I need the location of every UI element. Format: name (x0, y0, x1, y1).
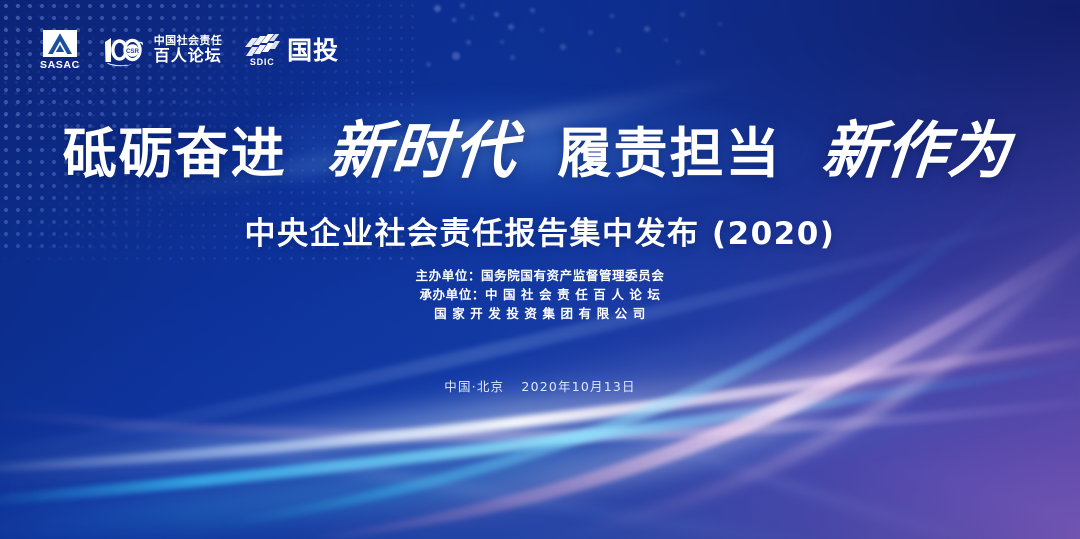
organizer-block: 主办单位：国务院国有资产监督管理委员会 承办单位：中 国 社 会 责 任 百 人… (0, 266, 1080, 323)
headline-segment-2: 新时代 (319, 120, 525, 182)
event-dateline: 中国·北京 2020年10月13日 (0, 376, 1080, 395)
headline-segment-3: 履责担当 (557, 126, 781, 180)
headline-segment-4: 新作为 (814, 120, 1020, 182)
sdic-chinese-wordmark: 国投 (287, 38, 339, 63)
sdic-chevrons-icon: SDIC (244, 34, 280, 67)
headline-segment-1: 砥砺奋进 (63, 126, 287, 180)
csr-100-emblem-icon: CSR (102, 33, 146, 67)
csr-cn-line-2: 百人论坛 (154, 49, 222, 65)
sdic-wordmark: SDIC (250, 57, 275, 67)
sasac-wordmark: SASAC (40, 60, 80, 71)
csr-cn-line-1: 中国社会责任 (154, 36, 222, 47)
organizer-line-coorganizer-1: 承办单位：中 国 社 会 责 任 百 人 论 坛 (0, 285, 1080, 304)
sponsor-logo-bar: SASAC CSR (40, 26, 339, 74)
organizer-line-coorganizer-2: 国 家 开 发 投 资 集 团 有 限 公 司 (0, 304, 1080, 323)
poster-subtitle: 中央企业社会责任报告集中发布 (2020) (0, 208, 1080, 253)
event-poster: SASAC CSR (0, 0, 1080, 539)
sasac-logo: SASAC (40, 30, 80, 71)
organizer-line-host: 主办单位：国务院国有资产监督管理委员会 (0, 266, 1080, 285)
poster-headline: 砥砺奋进 新时代 履责担当 新作为 (0, 120, 1080, 182)
event-date: 2020年10月13日 (521, 379, 635, 394)
sdic-logo: SDIC 国投 (244, 34, 339, 67)
china-csr-top100-forum-logo: CSR 中国社会责任 百人论坛 (102, 33, 222, 67)
event-location: 中国·北京 (444, 379, 504, 394)
csr-chinese-wordmark: 中国社会责任 百人论坛 (154, 36, 222, 65)
sasac-triangle-a-icon (43, 30, 77, 57)
svg-text:CSR: CSR (126, 48, 140, 55)
